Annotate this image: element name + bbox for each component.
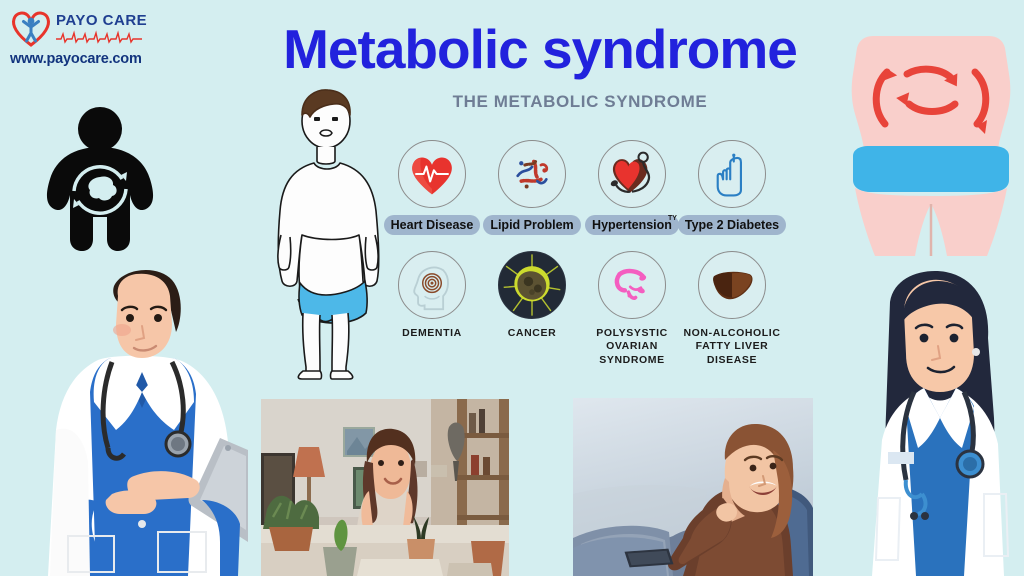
conditions-bottom-row: DEMENTIA CANCER <box>382 251 782 366</box>
conditions-top-row: Heart Disease Lipid <box>382 140 782 235</box>
overweight-man-cartoon <box>262 85 390 380</box>
condition-label: Lipid Problem <box>483 215 580 235</box>
logo-row: PAYO CARE <box>10 8 190 48</box>
belly-fat-metabolism-illustration <box>845 28 1020 258</box>
page-subtitle: THE METABOLIC SYNDROME <box>380 92 780 112</box>
condition-label: Hypertension <box>585 215 679 235</box>
condition-hypertension[interactable]: Hypertension <box>582 140 682 235</box>
condition-type-2-diabetes[interactable]: Type 2 Diabetes <box>682 140 782 235</box>
heart-blood-pressure-cuff-icon <box>598 140 666 208</box>
superscript-artifact: TY <box>668 215 677 222</box>
heart-person-logo-icon <box>10 8 52 48</box>
lipoprotein-molecule-icon <box>498 140 566 208</box>
condition-label: DEMENTIA <box>402 327 462 340</box>
ecg-line-icon <box>56 30 142 44</box>
heart-ecg-icon <box>398 140 466 208</box>
condition-heart-disease[interactable]: Heart Disease <box>382 140 482 235</box>
logo-text-wrap: PAYO CARE <box>56 13 147 44</box>
woman-with-plants-photo <box>261 399 509 576</box>
condition-label: POLYSYSTIC OVARIAN SYNDROME <box>582 327 682 366</box>
cancer-cell-icon <box>498 251 566 319</box>
hand-glucose-test-icon <box>698 140 766 208</box>
condition-label: NON-ALCOHOLIC FATTY LIVER DISEASE <box>682 327 782 366</box>
liver-icon <box>698 251 766 319</box>
condition-label: Type 2 Diabetes <box>678 215 786 235</box>
head-target-brain-icon <box>398 251 466 319</box>
brand-name: PAYO CARE <box>56 13 147 28</box>
obese-person-metabolism-silhouette <box>30 105 170 255</box>
condition-nafld[interactable]: NON-ALCOHOLIC FATTY LIVER DISEASE <box>682 251 782 366</box>
condition-label: Heart Disease <box>384 215 481 235</box>
female-doctor-illustration <box>848 268 1024 576</box>
brand-website[interactable]: www.payocare.com <box>10 51 190 67</box>
woman-laughing-sofa-photo <box>573 398 813 576</box>
condition-pcos[interactable]: POLYSYSTIC OVARIAN SYNDROME <box>582 251 682 366</box>
condition-dementia[interactable]: DEMENTIA <box>382 251 482 366</box>
infographic-canvas: PAYO CARE www.payocare.com Metabolic syn… <box>0 0 1024 576</box>
page-title: Metabolic syndrome <box>215 22 865 77</box>
condition-label: CANCER <box>508 327 557 340</box>
brand-logo[interactable]: PAYO CARE www.payocare.com <box>10 8 190 67</box>
male-doctor-with-tablet-illustration <box>38 262 248 576</box>
uterus-ovaries-icon <box>598 251 666 319</box>
condition-lipid-problem[interactable]: Lipid Problem <box>482 140 582 235</box>
condition-cancer[interactable]: CANCER <box>482 251 582 366</box>
conditions-grid: Heart Disease Lipid <box>382 140 782 367</box>
